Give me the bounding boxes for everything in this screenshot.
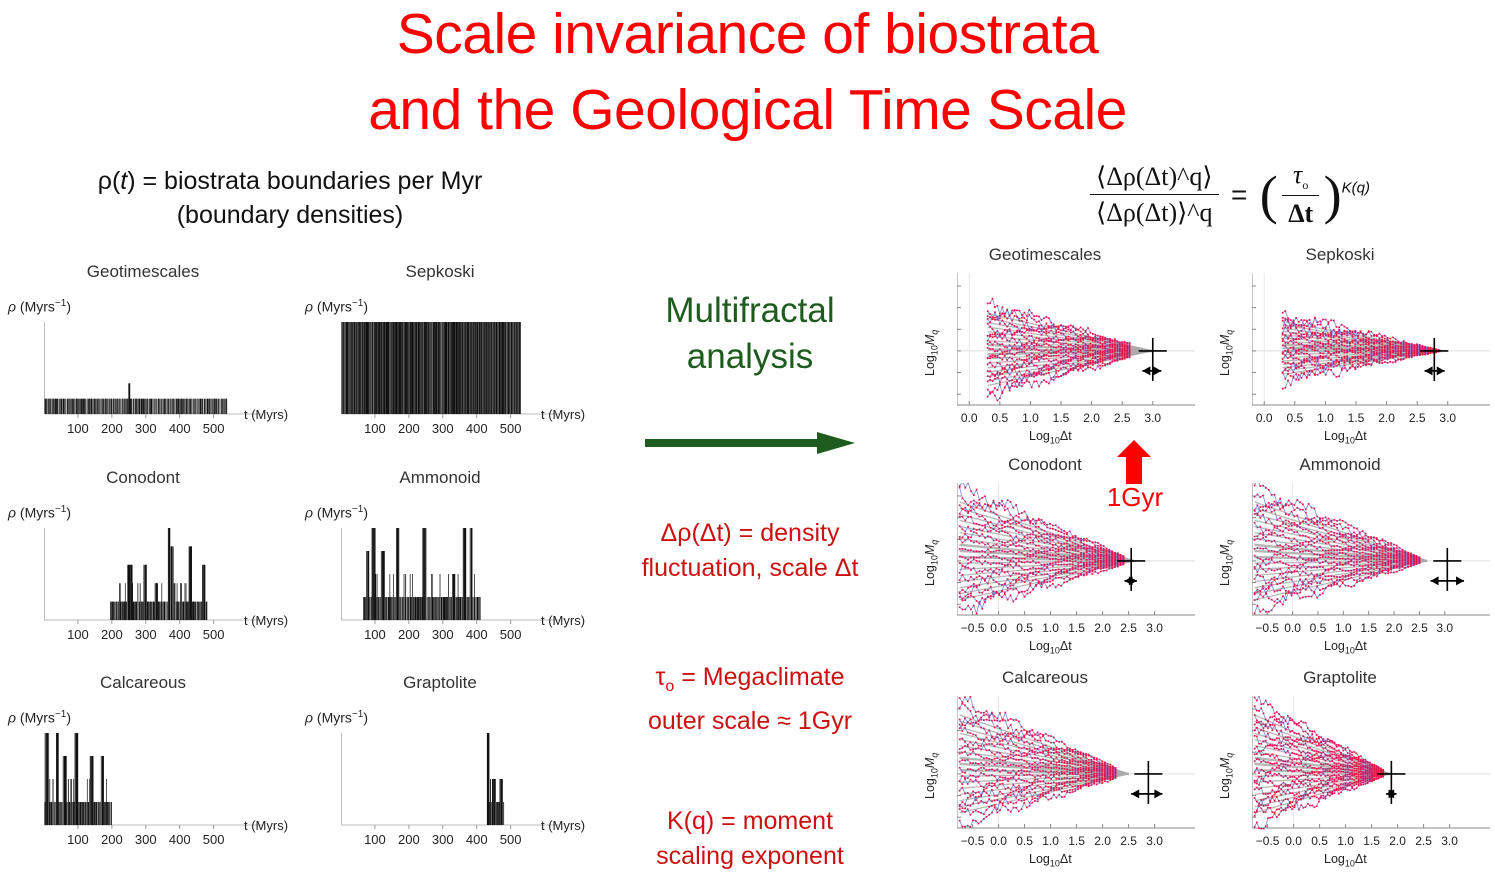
svg-text:2.5: 2.5 [1411, 621, 1428, 635]
svg-text:500: 500 [500, 627, 522, 642]
mf-x-axis-label: Log10Δt [1324, 639, 1367, 656]
title-line-1: Scale invariance of biostrata [0, 0, 1495, 72]
mf-plot-area: 0.60.40.20.0−0.2−0.4−0.50.00.51.01.52.02… [957, 696, 1211, 884]
svg-text:2.0: 2.0 [1378, 411, 1395, 425]
svg-text:2.5: 2.5 [1409, 411, 1426, 425]
kq-definition: K(q) = moment scaling exponent [600, 804, 900, 874]
density-panel-title: Conodont [8, 468, 278, 488]
green-right-arrow-icon [645, 432, 855, 454]
svg-text:100: 100 [67, 832, 89, 847]
density-panel-title: Ammonoid [305, 468, 575, 488]
svg-text:0.0: 0.0 [990, 621, 1007, 635]
density-panel-title: Calcareous [8, 673, 278, 693]
density-panel-title: Geotimescales [8, 262, 278, 282]
density-panel-title: Graptolite [305, 673, 575, 693]
mf-panel-title: Ammonoid [1200, 455, 1480, 475]
mf-x-axis-label: Log10Δt [1029, 429, 1072, 446]
tau-line-2: outer scale ≈ 1Gyr [595, 704, 905, 739]
svg-text:−0.5: −0.5 [961, 621, 985, 635]
density-y-axis-label: ρ (Myrs−1) [305, 504, 368, 521]
multifractal-chart-conodont: Conodont0.60.40.20.0−0.2−0.4−0.50.00.51.… [905, 455, 1185, 670]
density-chart-calcareous: Calcareousρ (Myrs−1)01234100200300400500… [8, 673, 278, 863]
svg-text:2.0: 2.0 [1386, 621, 1403, 635]
outer-scale-marker [1139, 338, 1167, 381]
svg-text:400: 400 [466, 832, 488, 847]
svg-text:200: 200 [398, 421, 420, 436]
svg-text:300: 300 [135, 832, 157, 847]
svg-text:0.5: 0.5 [1286, 411, 1303, 425]
svg-text:1.5: 1.5 [1068, 621, 1085, 635]
svg-text:500: 500 [203, 421, 225, 436]
svg-text:300: 300 [135, 421, 157, 436]
svg-text:300: 300 [432, 832, 454, 847]
outer-scale-marker [1377, 761, 1405, 804]
equation-exponent: K(q) [1342, 180, 1370, 197]
multifractal-chart-ammonoid: Ammonoid0.60.40.20.0−0.2−0.4−0.50.00.51.… [1200, 455, 1480, 670]
kq-line-2: scaling exponent [600, 839, 900, 874]
equation-equals-sign: = [1223, 179, 1255, 211]
svg-text:500: 500 [500, 421, 522, 436]
drho-line-1: Δρ(Δt) = density [661, 519, 840, 547]
mf-y-axis-label: Log10Mq [923, 540, 940, 586]
equation-denominator: ⟨Δρ(Δt)⟩^q [1090, 195, 1218, 228]
svg-text:0.5: 0.5 [991, 411, 1008, 425]
equation-close-paren: ) [1324, 172, 1342, 218]
mf-plot-area: 0.60.40.20.0−0.2−0.4−0.50.00.51.01.52.02… [1252, 696, 1495, 884]
multifractal-chart-geotimescales: Geotimescales0.60.40.20.0−0.2−0.40.00.51… [905, 245, 1185, 460]
outer-scale-marker [1131, 761, 1162, 804]
svg-text:0.0: 0.0 [1256, 411, 1273, 425]
svg-text:1.0: 1.0 [1022, 411, 1039, 425]
equation-open-paren: ( [1260, 172, 1278, 218]
tau-glyph-subscript: o [665, 678, 674, 695]
density-plot-area: 01234100200300400500t (Myrs) [341, 528, 591, 654]
mf-x-axis-label: Log10Δt [1029, 639, 1072, 656]
svg-text:2.5: 2.5 [1120, 621, 1137, 635]
mf-y-axis-label: Log10Mq [923, 330, 940, 376]
density-chart-graptolite: Graptoliteρ (Myrs−1)01234100200300400500… [305, 673, 575, 863]
mf-panel-title: Sepkoski [1200, 245, 1480, 265]
svg-text:400: 400 [466, 627, 488, 642]
tau-line-1: τo = Megaclimate [655, 663, 844, 691]
svg-text:400: 400 [466, 421, 488, 436]
mf-heading-line-1: Multifractal [665, 291, 834, 330]
outer-scale-marker [1431, 548, 1464, 591]
multifractal-chart-calcareous: Calcareous0.60.40.20.0−0.2−0.4−0.50.00.5… [905, 668, 1185, 883]
svg-text:3.0: 3.0 [1146, 621, 1163, 635]
mf-plot-area: 0.60.40.20.0−0.2−0.40.00.51.01.52.02.53.… [1252, 273, 1495, 461]
equation-lhs-fraction: ⟨Δρ(Δt)^q⟩ ⟨Δρ(Δt)⟩^q [1090, 162, 1218, 228]
tau-symbol: τ [1293, 160, 1302, 189]
density-chart-geotimescales: Geotimescalesρ (Myrs−1)01234561002003004… [8, 262, 278, 452]
svg-text:400: 400 [169, 421, 191, 436]
mf-panel-title: Graptolite [1200, 668, 1480, 688]
svg-text:t (Myrs): t (Myrs) [244, 407, 288, 422]
mf-panel-title: Geotimescales [905, 245, 1185, 265]
svg-text:300: 300 [135, 627, 157, 642]
svg-text:t (Myrs): t (Myrs) [541, 407, 585, 422]
svg-text:1.5: 1.5 [1053, 411, 1070, 425]
mf-y-axis-label: Log10Mq [923, 753, 940, 799]
multifractal-analysis-heading: Multifractal analysis [600, 288, 900, 380]
mf-plot-area: 0.60.40.20.0−0.2−0.4−0.50.00.51.01.52.02… [1252, 483, 1495, 671]
mf-x-axis-label: Log10Δt [1324, 429, 1367, 446]
svg-text:1.0: 1.0 [1335, 621, 1352, 635]
svg-text:300: 300 [432, 627, 454, 642]
tau-glyph: τ [655, 663, 665, 691]
svg-text:200: 200 [398, 627, 420, 642]
svg-text:100: 100 [364, 627, 386, 642]
rho-definition-caption: ρ(t) = biostrata boundaries per Myr (bou… [10, 164, 570, 232]
density-y-axis-label: ρ (Myrs−1) [305, 709, 368, 726]
mf-heading-line-2: analysis [600, 334, 900, 380]
svg-text:3.0: 3.0 [1144, 411, 1161, 425]
density-plot-area: 0123456100200300400500t (Myrs) [44, 322, 294, 448]
rho-caption-line-2: (boundary densities) [10, 198, 570, 232]
equation-numerator: ⟨Δρ(Δt)^q⟩ [1090, 162, 1218, 195]
svg-text:0.0: 0.0 [961, 411, 978, 425]
density-chart-sepkoski: Sepkoskiρ (Myrs−1)0.00.20.40.60.81.01002… [305, 262, 575, 452]
svg-text:0.5: 0.5 [1310, 621, 1327, 635]
svg-text:200: 200 [398, 832, 420, 847]
rho-caption-pre: ρ( [98, 167, 121, 195]
density-y-axis-label: ρ (Myrs−1) [305, 298, 368, 315]
multifractal-chart-graptolite: Graptolite0.60.40.20.0−0.2−0.4−0.50.00.5… [1200, 668, 1480, 883]
svg-text:t (Myrs): t (Myrs) [244, 818, 288, 833]
rho-caption-post: ) = biostrata boundaries per Myr [127, 167, 482, 195]
mf-panel-title: Conodont [905, 455, 1185, 475]
svg-text:100: 100 [67, 421, 89, 436]
equation-rhs-numerator: τo [1282, 160, 1319, 196]
svg-text:2.5: 2.5 [1114, 411, 1131, 425]
svg-text:200: 200 [101, 421, 123, 436]
svg-text:−0.5: −0.5 [1255, 621, 1279, 635]
density-chart-ammonoid: Ammonoidρ (Myrs−1)01234100200300400500t … [305, 468, 575, 658]
mf-y-axis-label: Log10Mq [1218, 540, 1235, 586]
svg-text:200: 200 [101, 627, 123, 642]
svg-text:2.0: 2.0 [1094, 621, 1111, 635]
density-panel-title: Sepkoski [305, 262, 575, 282]
svg-text:1.5: 1.5 [1360, 621, 1377, 635]
svg-text:300: 300 [432, 421, 454, 436]
svg-text:2.0: 2.0 [1083, 411, 1100, 425]
svg-text:400: 400 [169, 627, 191, 642]
delta-rho-definition: Δρ(Δt) = density fluctuation, scale Δt [600, 516, 900, 586]
svg-text:100: 100 [364, 421, 386, 436]
page-title: Scale invariance of biostrata and the Ge… [0, 0, 1495, 148]
svg-text:0.5: 0.5 [1016, 621, 1033, 635]
svg-text:500: 500 [203, 627, 225, 642]
density-y-axis-label: ρ (Myrs−1) [8, 709, 71, 726]
mf-x-axis-label: Log10Δt [1324, 852, 1367, 869]
svg-text:500: 500 [500, 832, 522, 847]
density-chart-conodont: Conodontρ (Myrs−1)012345100200300400500t… [8, 468, 278, 658]
tau-line-1-post: = Megaclimate [674, 663, 844, 691]
mf-y-axis-label: Log10Mq [1218, 753, 1235, 799]
equation-rhs-denominator: Δt [1282, 196, 1319, 229]
svg-text:t (Myrs): t (Myrs) [541, 818, 585, 833]
mf-plot-area: 0.60.40.20.0−0.2−0.4−0.50.00.51.01.52.02… [957, 483, 1211, 671]
density-plot-area: 01234100200300400500t (Myrs) [44, 733, 294, 859]
title-line-2: and the Geological Time Scale [0, 72, 1495, 148]
svg-text:t (Myrs): t (Myrs) [541, 613, 585, 628]
density-plot-area: 0.00.20.40.60.81.0100200300400500t (Myrs… [341, 322, 591, 448]
drho-line-2: fluctuation, scale Δt [600, 551, 900, 586]
svg-text:500: 500 [203, 832, 225, 847]
svg-text:200: 200 [101, 832, 123, 847]
svg-text:1.0: 1.0 [1317, 411, 1334, 425]
multifractal-chart-sepkoski: Sepkoski0.60.40.20.0−0.2−0.40.00.51.01.5… [1200, 245, 1480, 460]
svg-text:3.0: 3.0 [1436, 621, 1453, 635]
svg-text:100: 100 [364, 832, 386, 847]
svg-text:100: 100 [67, 627, 89, 642]
density-plot-area: 01234100200300400500t (Myrs) [341, 733, 591, 859]
equation-rhs-fraction: τo Δt [1282, 160, 1319, 229]
svg-text:1.0: 1.0 [1042, 621, 1059, 635]
mf-plot-area: 0.60.40.20.0−0.2−0.40.00.51.01.52.02.53.… [957, 273, 1211, 461]
density-y-axis-label: ρ (Myrs−1) [8, 298, 71, 315]
multifractal-equation: ⟨Δρ(Δt)^q⟩ ⟨Δρ(Δt)⟩^q = ( τo Δt )K(q) [1030, 160, 1430, 229]
svg-text:1.5: 1.5 [1348, 411, 1365, 425]
outer-scale-marker [1420, 338, 1448, 381]
svg-text:t (Myrs): t (Myrs) [244, 613, 288, 628]
svg-text:0.0: 0.0 [1284, 621, 1301, 635]
mf-panel-title: Calcareous [905, 668, 1185, 688]
svg-text:400: 400 [169, 832, 191, 847]
density-plot-area: 012345100200300400500t (Myrs) [44, 528, 294, 654]
tau-subscript: o [1302, 178, 1308, 192]
density-y-axis-label: ρ (Myrs−1) [8, 504, 71, 521]
svg-text:3.0: 3.0 [1439, 411, 1456, 425]
mf-y-axis-label: Log10Mq [1218, 330, 1235, 376]
kq-line-1: K(q) = moment [667, 807, 833, 835]
mf-x-axis-label: Log10Δt [1029, 852, 1072, 869]
tau-definition: τo = Megaclimate outer scale ≈ 1Gyr [595, 660, 905, 739]
